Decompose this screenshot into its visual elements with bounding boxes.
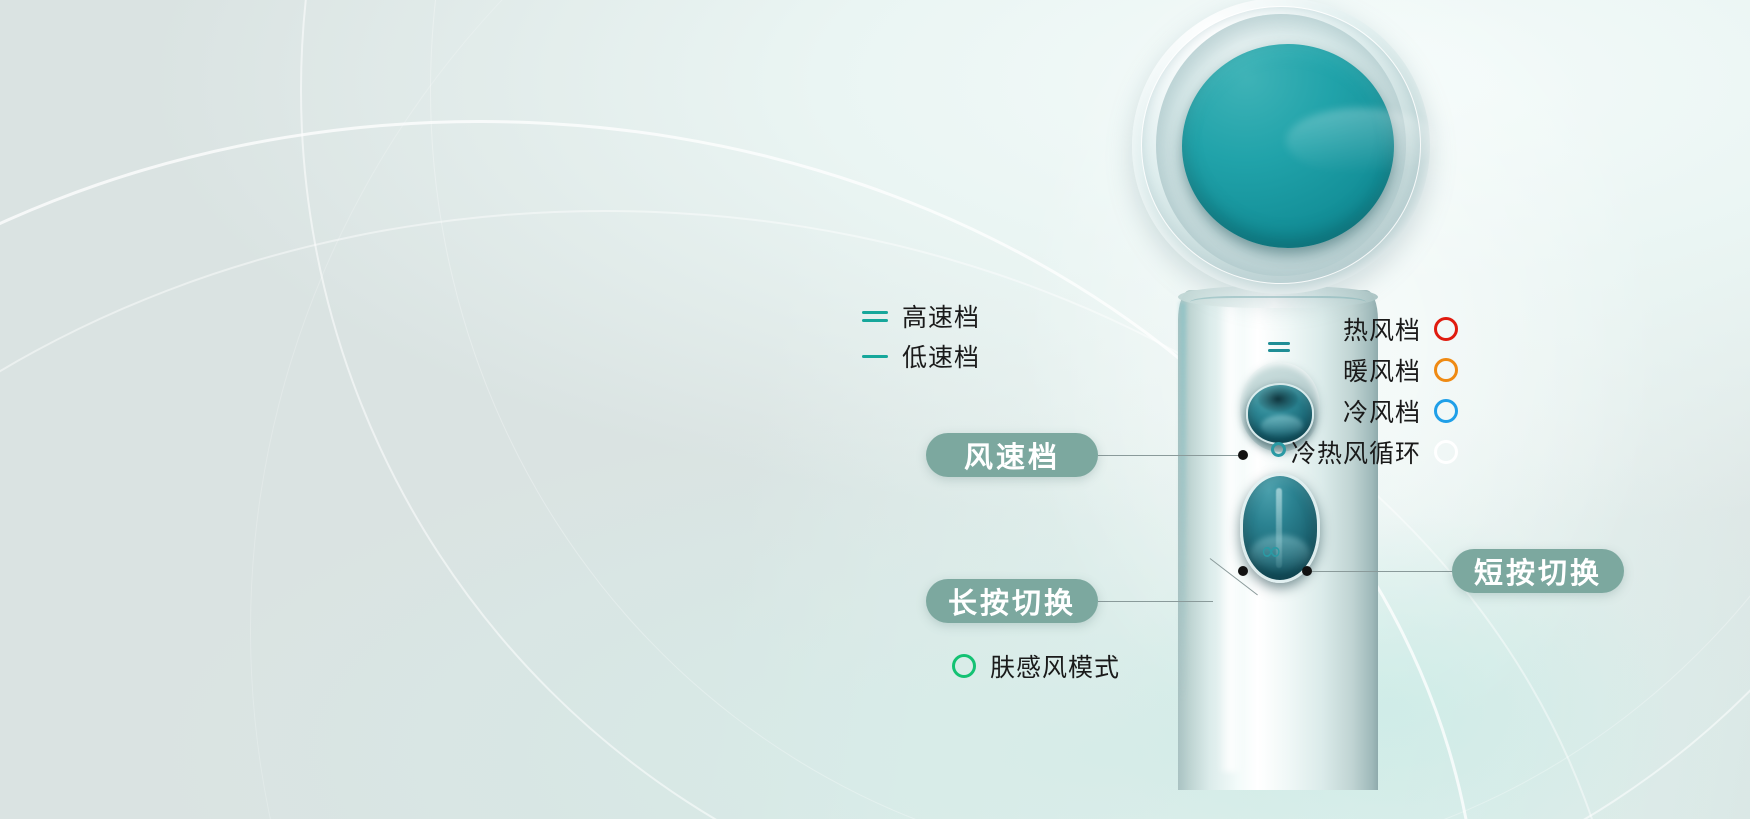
speed-bars-icon: [1268, 342, 1290, 360]
cycle-air-circle-icon: [1434, 440, 1458, 464]
callout-long-press[interactable]: 长按切换: [926, 579, 1098, 623]
connector-line-fan-speed: [1098, 455, 1242, 456]
connector-dot-short-press: [1302, 566, 1312, 576]
legend-item-cool-air: 冷风档: [1291, 390, 1458, 431]
callout-short-press[interactable]: 短按切换: [1452, 549, 1624, 593]
legend-label-cool-air: 冷风档: [1343, 393, 1421, 429]
connector-dot-long-press: [1238, 566, 1248, 576]
callout-short-press-label: 短按切换: [1474, 550, 1602, 592]
fan-speed-legend: 高速档 低速档: [862, 296, 980, 376]
callout-fan-speed-label: 风速档: [964, 434, 1060, 476]
connector-line-short-press: [1312, 571, 1454, 572]
legend-item-warm-air: 暖风档: [1291, 349, 1458, 390]
connector-line-long-press-horizontal: [1098, 601, 1213, 602]
legend-label-high-speed: 高速档: [902, 298, 980, 334]
nozzle-disc-gloss: [1286, 108, 1436, 174]
legend-item-low-speed: 低速档: [862, 336, 980, 376]
legend-item-hot-air: 热风档: [1291, 308, 1458, 349]
heat-mode-legend: 热风档 暖风档 冷风档 冷热风循环: [1291, 308, 1458, 472]
infinity-icon: ∞: [1260, 542, 1296, 564]
product-infographic: ∞ 高速档 低速档 热风档 暖风档 冷风档 冷热风循环: [0, 0, 1750, 819]
handle-edge-highlight: [1180, 302, 1186, 702]
hot-air-circle-icon: [1434, 317, 1458, 341]
legend-label-skin-mode: 肤感风模式: [990, 648, 1120, 684]
callout-long-press-label: 长按切换: [948, 580, 1076, 622]
dryer-nozzle-disc: [1182, 44, 1394, 248]
legend-label-hot-air: 热风档: [1343, 311, 1421, 347]
double-bar-icon: [862, 311, 888, 322]
warm-air-circle-icon: [1434, 358, 1458, 382]
callout-fan-speed[interactable]: 风速档: [926, 433, 1098, 477]
connector-dot-fan-speed: [1238, 450, 1248, 460]
legend-label-low-speed: 低速档: [902, 338, 980, 374]
cool-air-circle-icon: [1434, 399, 1458, 423]
single-bar-icon: [862, 355, 888, 358]
legend-label-warm-air: 暖风档: [1343, 352, 1421, 388]
legend-item-high-speed: 高速档: [862, 296, 980, 336]
legend-label-cycle-air: 冷热风循环: [1291, 434, 1421, 470]
cool-ring-icon: [1271, 442, 1286, 457]
legend-item-cycle-air: 冷热风循环: [1291, 431, 1458, 472]
skin-mode-circle-icon: [952, 654, 976, 678]
skin-mode-legend: 肤感风模式: [952, 648, 1120, 684]
